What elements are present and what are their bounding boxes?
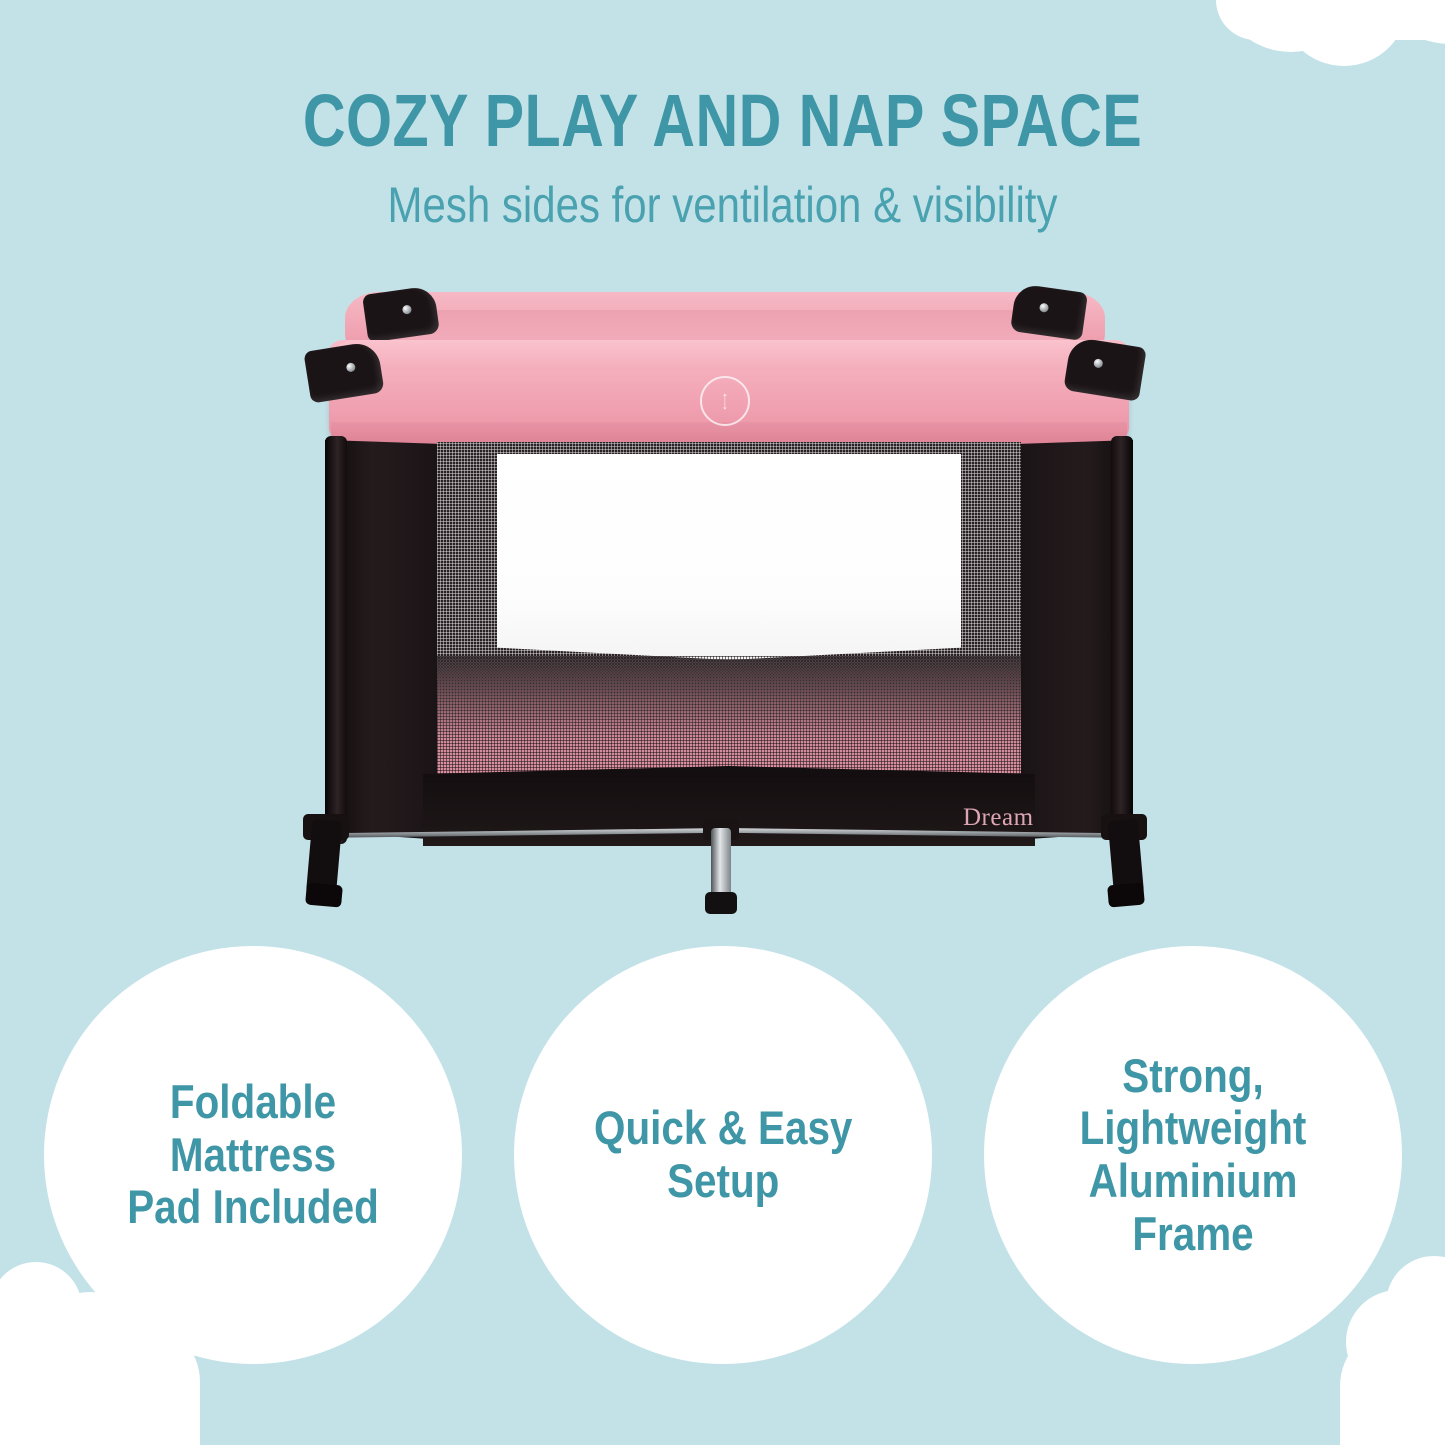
feature-circle-foldable-mattress-pad: Foldable Mattress Pad Included [44, 946, 462, 1364]
feature-line-1: Foldable Mattress [89, 1076, 418, 1181]
playard-body: Dream On Me [325, 440, 1133, 840]
feature-line-1: Strong, Lightweight [1029, 1050, 1358, 1155]
feature-line-2: Aluminium Frame [1029, 1155, 1358, 1260]
corner-bracket-top-right [1010, 283, 1088, 341]
corner-bracket-bottom-right [1063, 336, 1147, 401]
corner-post-left [325, 436, 347, 844]
infographic-canvas: COZY PLAY AND NAP SPACE Mesh sides for v… [0, 0, 1445, 1445]
feature-line-2: Setup [594, 1155, 852, 1208]
feature-label: Strong, Lightweight Aluminium Frame [1013, 1050, 1372, 1261]
height-adjust-emblem-icon: ↑ ↓ [700, 376, 750, 426]
center-support-post [711, 828, 731, 898]
feature-label: Quick & Easy Setup [578, 1102, 867, 1207]
product-playard-image: ↑ ↓ Dream On Me [285, 280, 1165, 930]
cloud-base [1216, 0, 1445, 40]
top-rail-surface [337, 340, 1121, 370]
cloud-base [1340, 1326, 1445, 1445]
arrow-down-icon: ↓ [722, 401, 729, 409]
cloud-bottom-right [1380, 1246, 1445, 1445]
mattress-pad [497, 454, 961, 660]
feature-line-2: Pad Included [89, 1181, 418, 1234]
feature-label: Foldable Mattress Pad Included [73, 1076, 432, 1234]
feature-line-1: Quick & Easy [594, 1102, 852, 1155]
feature-circle-quick-easy-setup: Quick & Easy Setup [514, 946, 932, 1364]
feature-circle-aluminium-frame: Strong, Lightweight Aluminium Frame [984, 946, 1402, 1364]
foot-left [305, 882, 343, 907]
page-headline: COZY PLAY AND NAP SPACE [145, 78, 1301, 163]
page-subheadline: Mesh sides for ventilation & visibility [116, 176, 1330, 234]
foot-right [1107, 882, 1145, 907]
corner-post-right [1111, 436, 1133, 844]
corner-bracket-top-left [362, 285, 440, 343]
center-support-foot [705, 892, 737, 914]
